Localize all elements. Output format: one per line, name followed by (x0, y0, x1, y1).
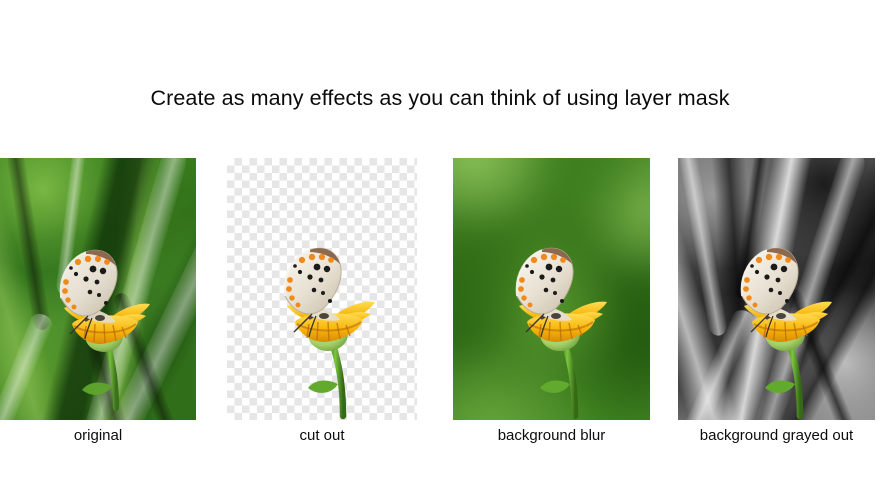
image-panel-background-grayed-out[interactable] (678, 158, 875, 420)
image-panel-cut-out[interactable] (227, 158, 417, 420)
transparency-checkerboard (227, 158, 417, 420)
photo-background-grayed-out (678, 158, 875, 420)
caption-original: original (0, 427, 196, 445)
photo-background-blur (453, 158, 650, 420)
caption-cut-out: cut out (227, 427, 417, 445)
blurred-grass-background (453, 158, 650, 420)
photo-original (0, 158, 196, 420)
page-title: Create as many effects as you can think … (0, 86, 880, 111)
caption-background-blur: background blur (453, 427, 650, 445)
slide-canvas: Create as many effects as you can think … (0, 0, 880, 500)
photo-cut-out (227, 158, 417, 420)
caption-background-grayed-out: background grayed out (678, 427, 875, 445)
image-panel-background-blur[interactable] (453, 158, 650, 420)
image-panel-original[interactable] (0, 158, 196, 420)
